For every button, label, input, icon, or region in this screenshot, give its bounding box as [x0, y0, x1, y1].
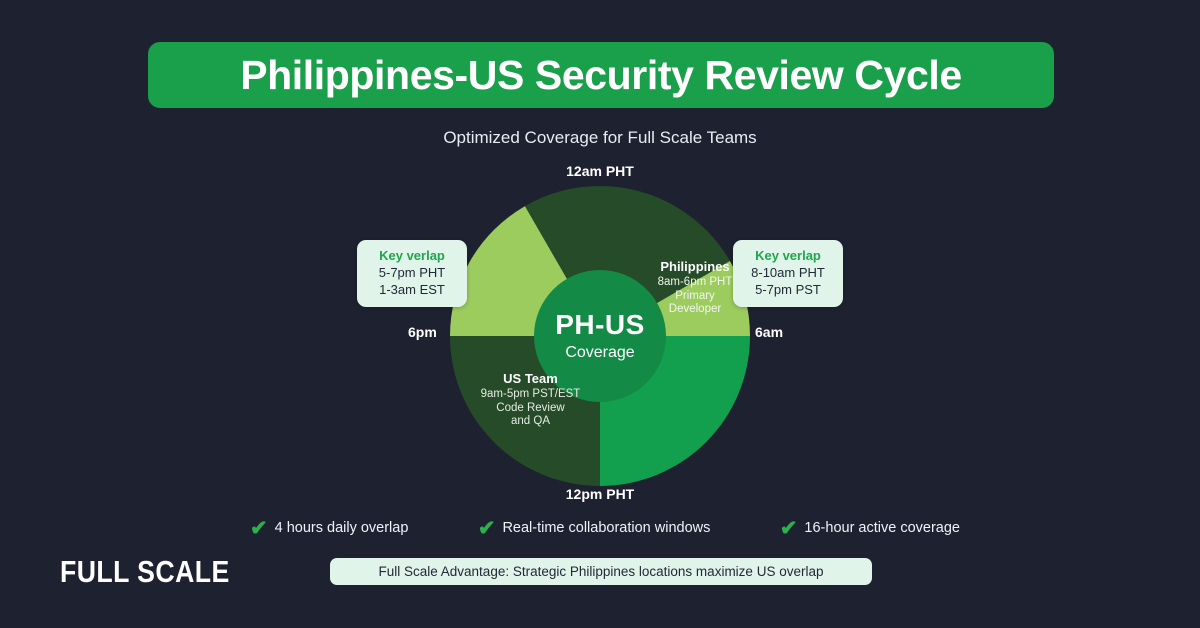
feature-item: ✔ 16-hour active coverage	[780, 518, 960, 539]
advantage-banner-text: Full Scale Advantage: Strategic Philippi…	[379, 564, 824, 579]
check-icon: ✔	[250, 518, 268, 539]
check-icon: ✔	[478, 518, 496, 539]
callout-line: 5-7pm PHT	[367, 265, 457, 282]
feature-label: 16-hour active coverage	[804, 520, 960, 536]
feature-list: ✔ 4 hours daily overlap ✔ Real-time coll…	[250, 513, 960, 543]
check-icon: ✔	[780, 518, 798, 539]
page-title-banner: Philippines-US Security Review Cycle	[148, 42, 1054, 108]
clock-label-right: 6am	[755, 324, 783, 340]
coverage-donut-chart: Off hours (12am-4am PHT)Key Overlap (4am…	[450, 186, 750, 486]
page-subtitle: Optimized Coverage for Full Scale Teams	[0, 128, 1200, 148]
feature-label: Real-time collaboration windows	[502, 520, 710, 536]
clock-label-left: 6pm	[408, 324, 437, 340]
callout-key-overlap-right: Key verlap 8-10am PHT 5-7pm PST	[733, 240, 843, 307]
infographic-canvas: Philippines-US Security Review Cycle Opt…	[0, 0, 1200, 628]
callout-line: 5-7pm PST	[743, 282, 833, 299]
callout-key-overlap-left: Key verlap 5-7pm PHT 1-3am EST	[357, 240, 467, 307]
donut-hub-circle	[534, 270, 666, 402]
callout-line: 8-10am PHT	[743, 265, 833, 282]
advantage-banner: Full Scale Advantage: Strategic Philippi…	[330, 558, 872, 585]
donut-svg: Off hours (12am-4am PHT)Key Overlap (4am…	[450, 186, 750, 486]
callout-heading: Key verlap	[743, 248, 833, 263]
clock-label-top: 12am PHT	[0, 163, 1200, 179]
feature-item: ✔ 4 hours daily overlap	[250, 518, 408, 539]
callout-line: 1-3am EST	[367, 282, 457, 299]
page-title: Philippines-US Security Review Cycle	[240, 52, 962, 99]
feature-item: ✔ Real-time collaboration windows	[478, 518, 711, 539]
feature-label: 4 hours daily overlap	[275, 520, 409, 536]
callout-heading: Key verlap	[367, 248, 457, 263]
full-scale-logo: FULL SCALE	[60, 554, 230, 590]
clock-label-bottom: 12pm PHT	[0, 486, 1200, 502]
